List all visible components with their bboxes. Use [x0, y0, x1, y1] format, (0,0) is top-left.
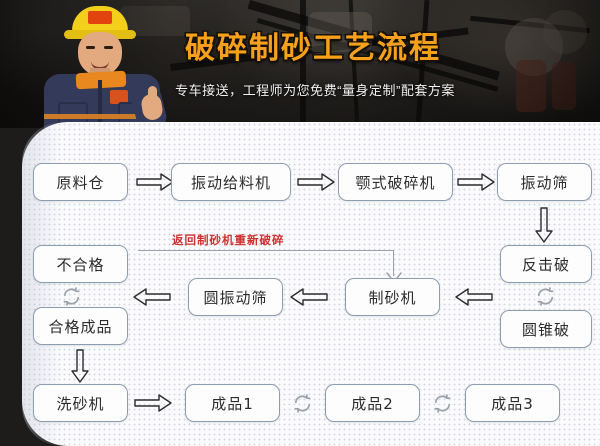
node-label: 振动给料机 [191, 172, 271, 193]
node-product-1[interactable]: 成品1 [185, 384, 280, 422]
recycle-icon [433, 394, 452, 413]
recycle-icon [536, 287, 555, 306]
arrow-left-icon [290, 288, 328, 306]
node-sand-washer[interactable]: 洗砂机 [33, 384, 128, 422]
node-jaw-crusher[interactable]: 颚式破碎机 [338, 163, 453, 201]
worker-zipper [98, 80, 102, 128]
arrow-down-icon [535, 207, 553, 243]
hero-banner: 破碎制砂工艺流程 专车接送，工程师为您免费“量身定制”配套方案 [0, 0, 600, 128]
arrow-left-icon [133, 288, 171, 306]
recycle-icon [62, 287, 81, 306]
flowchart-poster: 破碎制砂工艺流程 专车接送，工程师为您免费“量身定制”配套方案 原料仓 振动给料… [0, 0, 600, 446]
node-cone-crusher[interactable]: 圆锥破 [500, 310, 592, 348]
node-label: 制砂机 [368, 287, 416, 308]
node-circular-screen[interactable]: 圆振动筛 [188, 278, 283, 316]
node-label: 成品3 [491, 393, 534, 414]
arrow-left-icon [455, 288, 493, 306]
node-unqualified[interactable]: 不合格 [33, 245, 128, 283]
node-label: 反击破 [522, 254, 570, 275]
return-line-horizontal [138, 250, 394, 251]
node-label: 颚式破碎机 [355, 172, 435, 193]
node-label: 原料仓 [56, 172, 104, 193]
node-label: 圆振动筛 [203, 287, 267, 308]
arrow-right-icon [457, 173, 495, 191]
node-label: 成品1 [211, 393, 254, 414]
node-label: 合格成品 [48, 316, 112, 337]
return-note-label: 返回制砂机重新破碎 [172, 232, 285, 248]
recycle-icon [293, 394, 312, 413]
node-product-2[interactable]: 成品2 [325, 384, 420, 422]
arrow-right-icon [136, 173, 174, 191]
node-sand-maker[interactable]: 制砂机 [345, 278, 440, 316]
node-label: 振动筛 [520, 172, 568, 193]
node-label: 成品2 [351, 393, 394, 414]
arrow-down-icon [71, 349, 89, 383]
node-label: 圆锥破 [522, 319, 570, 340]
page-title: 破碎制砂工艺流程 [168, 23, 458, 67]
worker-eye [104, 46, 113, 49]
hard-hat-badge [88, 11, 112, 24]
node-qualified-product[interactable]: 合格成品 [33, 307, 128, 345]
arrow-right-icon [297, 173, 335, 191]
node-raw-bin[interactable]: 原料仓 [33, 163, 128, 201]
arrow-right-icon [134, 394, 172, 412]
node-label: 不合格 [56, 254, 104, 275]
page-subtitle: 专车接送，工程师为您免费“量身定制”配套方案 [130, 80, 500, 99]
node-product-3[interactable]: 成品3 [465, 384, 560, 422]
worker-photo [14, 2, 164, 128]
node-label: 洗砂机 [56, 393, 104, 414]
worker-eye [86, 46, 95, 49]
node-impact-crusher[interactable]: 反击破 [500, 245, 592, 283]
node-vibrating-screen[interactable]: 振动筛 [497, 163, 592, 201]
node-vibrating-feeder[interactable]: 振动给料机 [171, 163, 291, 201]
